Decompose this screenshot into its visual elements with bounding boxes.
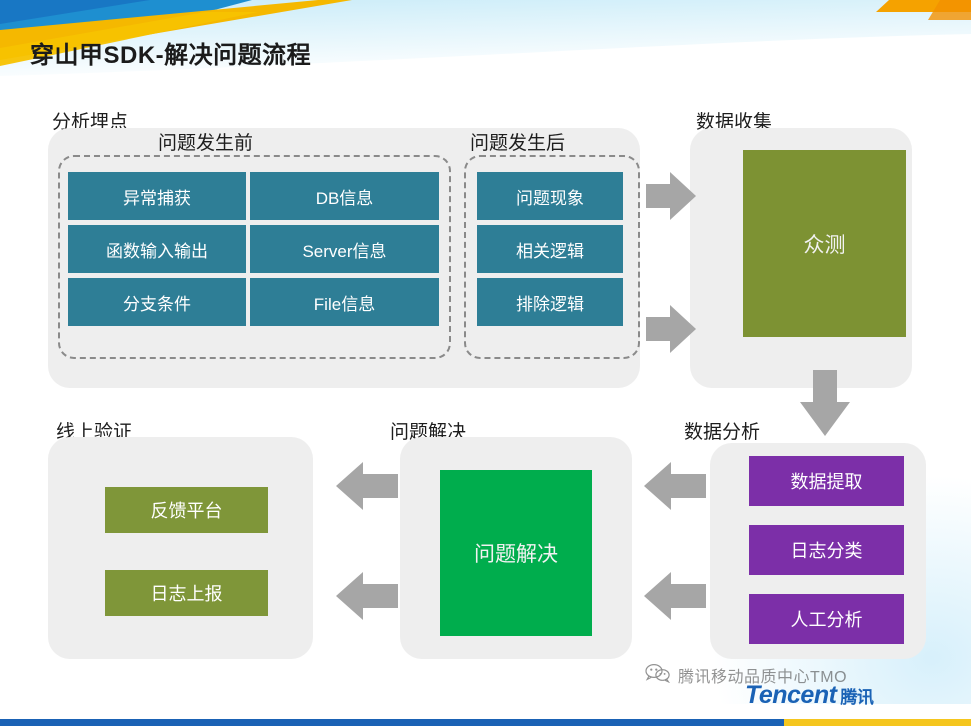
chip-exclude-logic[interactable]: 排除逻辑: [477, 278, 623, 326]
sub-label-before-issue: 问题发生前: [158, 128, 253, 155]
box-crowd-test[interactable]: 众测: [743, 150, 906, 337]
arrow-resolve-to-verify-top: [336, 462, 398, 510]
arrow-analyze-to-resolve-bottom: [644, 572, 706, 620]
chip-file-info[interactable]: File信息: [250, 278, 439, 326]
arrow-analyze-to-resolve-top: [644, 462, 706, 510]
wechat-icon-svg: [645, 663, 671, 683]
chip-log-classify[interactable]: 日志分类: [749, 525, 904, 575]
chip-manual-analyze[interactable]: 人工分析: [749, 594, 904, 644]
chip-related-logic[interactable]: 相关逻辑: [477, 225, 623, 273]
wechat-icon: [645, 663, 671, 688]
chip-log-report[interactable]: 日志上报: [105, 570, 268, 616]
tencent-logo-cn: 腾讯: [840, 688, 873, 707]
arrow-after-to-collect-bottom: [646, 305, 696, 353]
box-issue-resolved[interactable]: 问题解决: [440, 470, 592, 636]
arrow-collect-to-analyze: [800, 370, 850, 436]
arrow-resolve-to-verify-bottom: [336, 572, 398, 620]
chip-exception-capture[interactable]: 异常捕获: [68, 172, 246, 220]
tencent-logo: Tencent腾讯: [745, 681, 873, 710]
chip-issue-symptom[interactable]: 问题现象: [477, 172, 623, 220]
tencent-logo-latin: Tencent: [745, 681, 836, 709]
panel-verify: [48, 437, 313, 659]
page-title: 穿山甲SDK-解决问题流程: [30, 35, 311, 70]
chip-feedback-platform[interactable]: 反馈平台: [105, 487, 268, 533]
arrow-after-to-collect-top: [646, 172, 696, 220]
group-label-analyze: 数据分析: [684, 417, 760, 444]
chip-branch-condition[interactable]: 分支条件: [68, 278, 246, 326]
chip-data-extract[interactable]: 数据提取: [749, 456, 904, 506]
chip-db-info[interactable]: DB信息: [250, 172, 439, 220]
sub-label-after-issue: 问题发生后: [470, 128, 565, 155]
chip-function-io[interactable]: 函数输入输出: [68, 225, 246, 273]
chip-server-info[interactable]: Server信息: [250, 225, 439, 273]
